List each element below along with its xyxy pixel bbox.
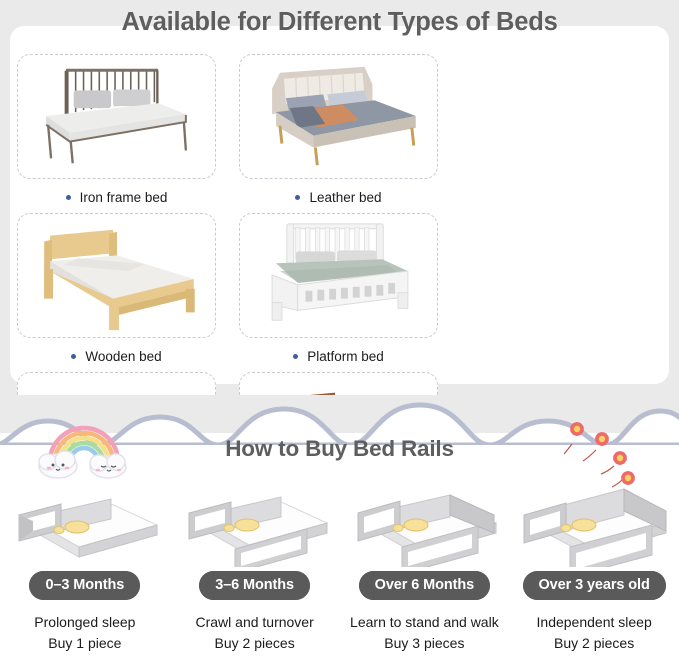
rail-activity: Learn to stand and walk [350, 612, 499, 633]
flower-4 [620, 469, 636, 486]
age-badge: 0–3 Months [29, 571, 140, 600]
bed-with-2-rails-icon [175, 475, 335, 567]
bed-label: Leather bed [239, 190, 438, 205]
rail-description: Learn to stand and walk Buy 3 pieces [350, 612, 499, 654]
rail-card-0-3-months[interactable]: 0–3 Months Prolonged sleep Buy 1 piece [0, 475, 170, 654]
bed-types-section: Available for Different Types of Beds [0, 0, 679, 395]
bed-label: Platform bed [239, 349, 438, 364]
flower-1 [569, 420, 585, 437]
bed-card-wooden[interactable]: Wooden bed [17, 213, 232, 364]
rainbow-clouds-icon [32, 418, 137, 480]
wooden-bed-photo [17, 213, 216, 338]
bed-label: Iron frame bed [17, 190, 216, 205]
age-badge: 3–6 Months [199, 571, 310, 600]
bed-card-platform[interactable]: Platform bed [239, 213, 454, 364]
rail-quantity: Buy 3 pieces [350, 633, 499, 654]
bullet-icon [295, 195, 300, 200]
flower-2 [594, 430, 610, 447]
bed-rails-grid: 0–3 Months Prolonged sleep Buy 1 piece [0, 475, 679, 654]
bullet-icon [71, 354, 76, 359]
flowers-icon [556, 416, 642, 496]
rail-description: Crawl and turnover Buy 2 pieces [195, 612, 313, 654]
bullet-icon [293, 354, 298, 359]
bed-label-text: Leather bed [309, 190, 381, 205]
bed-label: Wooden bed [17, 349, 216, 364]
bed-label-text: Iron frame bed [80, 190, 168, 205]
rail-quantity: Buy 2 pieces [195, 633, 313, 654]
iron-frame-bed-photo [17, 54, 216, 179]
rail-activity: Independent sleep [537, 612, 652, 633]
rail-activity: Prolonged sleep [34, 612, 135, 633]
rail-description: Independent sleep Buy 2 pieces [537, 612, 652, 654]
rail-card-over-6-months[interactable]: Over 6 Months Learn to stand and walk Bu… [340, 475, 510, 654]
page-title: Available for Different Types of Beds [0, 8, 679, 37]
rail-quantity: Buy 1 piece [34, 633, 135, 654]
cloud-right [90, 454, 126, 478]
bed-card-leather[interactable]: Leather bed [239, 54, 454, 205]
cloud-left [39, 451, 77, 478]
bed-card-iron-frame[interactable]: Iron frame bed [17, 54, 232, 205]
rail-card-3-6-months[interactable]: 3–6 Months Crawl and turnover Buy 2 piec… [170, 475, 340, 654]
rail-description: Prolonged sleep Buy 1 piece [34, 612, 135, 654]
leather-bed-photo [239, 54, 438, 179]
bed-label-text: Platform bed [307, 349, 384, 364]
bullet-icon [66, 195, 71, 200]
bed-with-1-rail-icon [5, 475, 165, 567]
rail-quantity: Buy 2 pieces [537, 633, 652, 654]
flower-3 [612, 449, 628, 466]
platform-bed-photo [239, 213, 438, 338]
bed-with-3-rails-icon [344, 475, 504, 567]
bed-label-text: Wooden bed [85, 349, 161, 364]
rail-activity: Crawl and turnover [195, 612, 313, 633]
age-badge: Over 3 years old [523, 571, 666, 600]
rail-card-over-3-years[interactable]: Over 3 years old Independent sleep Buy 2… [509, 475, 679, 654]
age-badge: Over 6 Months [359, 571, 490, 600]
